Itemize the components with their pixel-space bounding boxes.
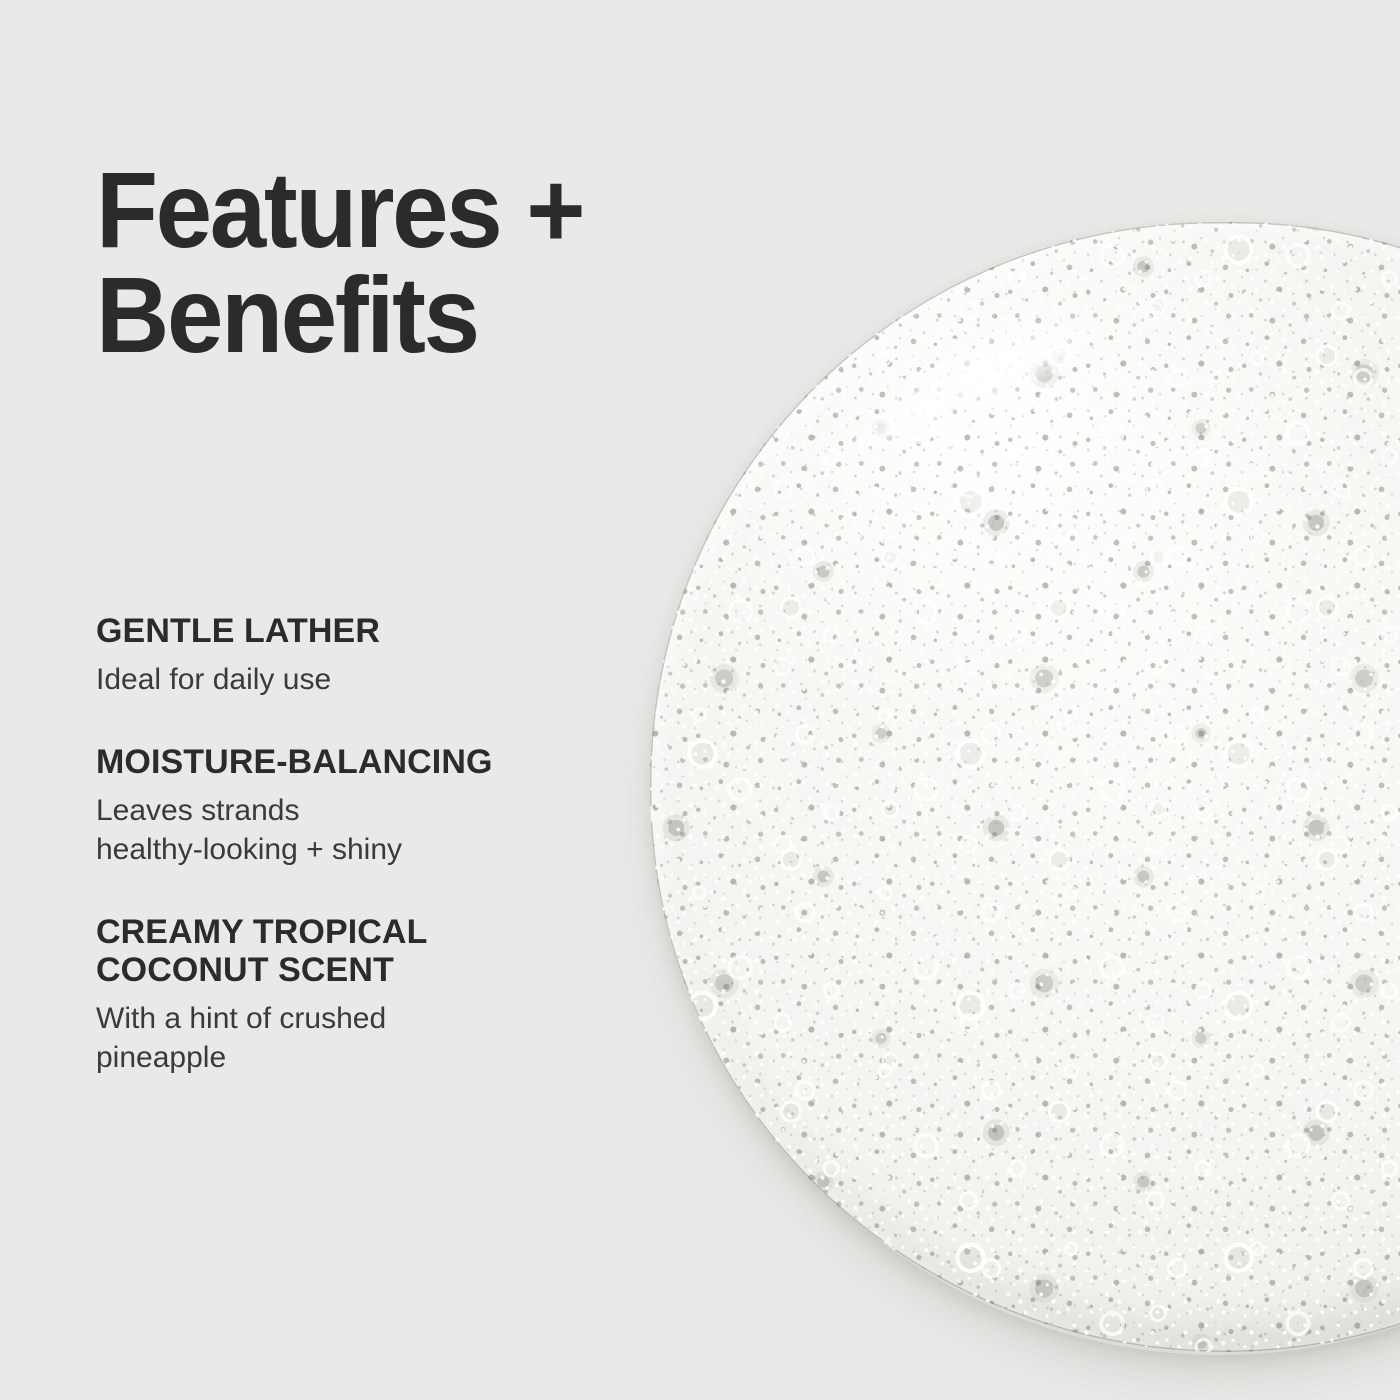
- feature-item: CREAMY TROPICAL COCONUT SCENT With a hin…: [96, 913, 656, 1077]
- gel-droplet-body: [650, 222, 1400, 1352]
- gel-grain-coarse: [650, 222, 1400, 1352]
- gel-sparkle: [650, 222, 1400, 1352]
- feature-list: GENTLE LATHER Ideal for daily use MOISTU…: [96, 612, 656, 1077]
- gel-bubbles-small: [650, 222, 1400, 1352]
- product-feature-card: Features + Benefits GENTLE LATHER Ideal …: [0, 0, 1400, 1400]
- feature-description-coconut-scent: With a hint of crushed pineapple: [96, 999, 656, 1077]
- feature-title-coconut-scent: CREAMY TROPICAL COCONUT SCENT: [96, 913, 656, 989]
- gel-grain-fine: [650, 222, 1400, 1352]
- gel-droplet-shadow: [660, 240, 1400, 1355]
- product-image-gel-droplet: [650, 222, 1400, 1352]
- feature-description-moisture-balancing: Leaves strands healthy-looking + shiny: [96, 791, 656, 869]
- page-title: Features + Benefits: [96, 158, 583, 368]
- feature-item: GENTLE LATHER Ideal for daily use: [96, 612, 656, 699]
- gel-bubbles-large: [650, 222, 1400, 1352]
- gel-specular-highlight: [875, 292, 1121, 441]
- feature-description-gentle-lather: Ideal for daily use: [96, 660, 656, 699]
- feature-title-moisture-balancing: MOISTURE-BALANCING: [96, 743, 656, 781]
- gel-speckle-clusters: [650, 222, 1400, 1352]
- gel-specular-highlight-secondary: [833, 372, 983, 468]
- feature-title-gentle-lather: GENTLE LATHER: [96, 612, 656, 650]
- feature-item: MOISTURE-BALANCING Leaves strands health…: [96, 743, 656, 869]
